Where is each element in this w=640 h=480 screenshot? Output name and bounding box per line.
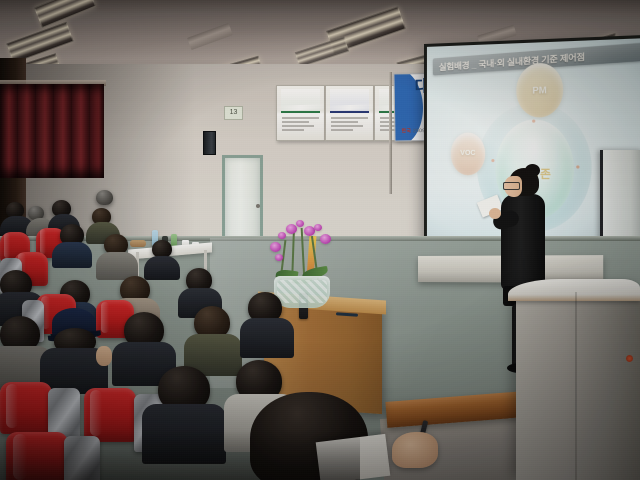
room-number-sign: 13: [224, 106, 243, 120]
foreground-hand: [392, 432, 438, 468]
lectern-indicator-light[interactable]: [626, 355, 633, 362]
ceiling-light: [295, 36, 349, 67]
audience-torso: [144, 256, 180, 280]
lectern-top-surface: [508, 279, 640, 301]
photo-canvas: 대구 대 한국 2009. 11. 13 실험배경 _ 국내·외 실내환경 기준…: [0, 0, 640, 480]
slide-tick-marker: [491, 159, 494, 162]
audience-torso: [240, 318, 294, 358]
ceiling-light: [34, 0, 96, 28]
glasses-icon: [503, 182, 520, 190]
wall-poster[interactable]: [276, 85, 325, 141]
auditorium-seat: [0, 382, 52, 434]
lectern-panel-seam: [575, 292, 577, 480]
gray-lectern: [516, 288, 640, 480]
presenter-torso: [501, 194, 545, 290]
presenter-hand: [489, 208, 501, 219]
presenter-hair-bun: [525, 164, 540, 177]
stage-curtain: [0, 84, 104, 178]
slide-title-bar: [433, 43, 640, 76]
foreground-shadow: [0, 430, 360, 480]
banner-footer-mark: 한국: [401, 128, 411, 134]
slide-bubble-voc: VOC: [451, 132, 485, 175]
ceiling-vent: [187, 23, 233, 50]
audience-torso: [52, 242, 92, 268]
wall-speaker: [203, 131, 216, 155]
slide-tick-marker: [576, 165, 579, 168]
audience-hand: [96, 346, 112, 366]
slide-title: 실험배경 _ 국내·외 실내환경 기준 제어점: [439, 45, 640, 74]
slide-tick-marker: [532, 120, 535, 123]
banner-pole: [389, 72, 392, 194]
wall-poster[interactable]: [325, 85, 374, 141]
ceiling-light: [326, 6, 406, 53]
audience-head: [96, 190, 113, 205]
slide-bubble-pm: PM: [516, 62, 563, 117]
